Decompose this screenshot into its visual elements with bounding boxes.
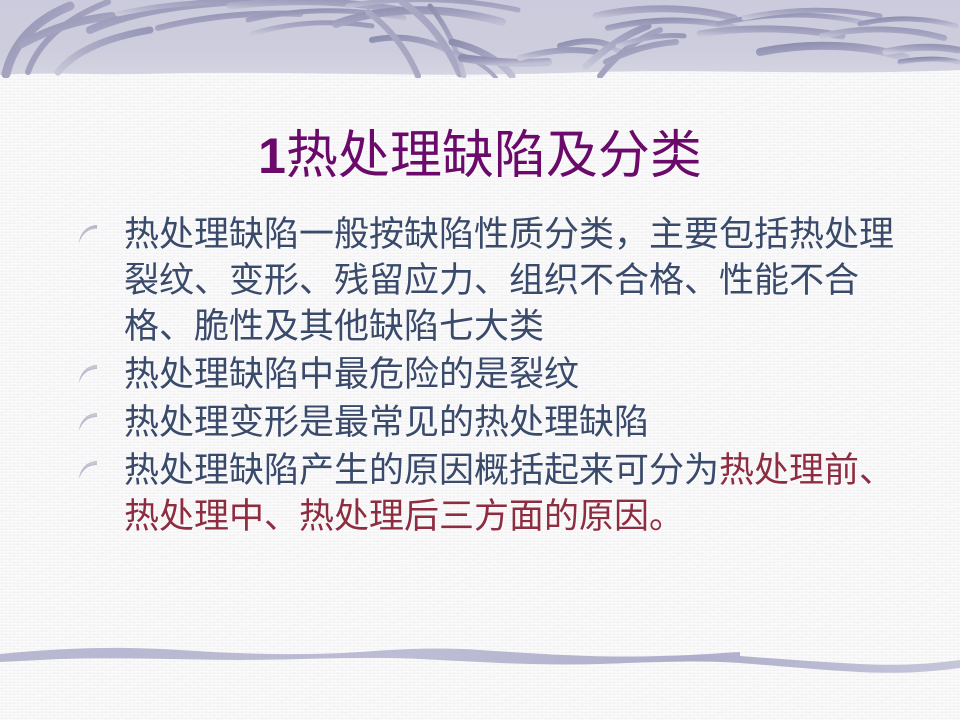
list-item-text: 热处理变形是最常见的热处理缺陷 [124, 403, 649, 443]
slide-canvas: 1热处理缺陷及分类 热处理缺陷一般按缺陷性质分类，主要包括热处 [0, 0, 960, 720]
slide-title: 1热处理缺陷及分类 [0, 126, 960, 187]
title-number: 1 [258, 128, 286, 184]
title-heading: 热处理缺陷及分类 [286, 126, 702, 186]
list-item-text: 热处理缺陷产生的原因概括起来可分为 [124, 451, 719, 491]
crescent-arc-bullet-icon [76, 362, 102, 386]
list-item: 热处理缺陷中最危险的是裂纹 [72, 352, 902, 398]
list-item: 热处理缺陷一般按缺陷性质分类，主要包括热处理裂纹、变形、残留应力、组织不合格、性… [72, 212, 902, 350]
crescent-arc-bullet-icon [76, 458, 102, 482]
list-item: 热处理变形是最常见的热处理缺陷 [72, 400, 902, 446]
header-decoration-band [0, 0, 960, 78]
list-item-text: 热处理缺陷中最危险的是裂纹 [124, 355, 579, 395]
bullet-list: 热处理缺陷一般按缺陷性质分类，主要包括热处理裂纹、变形、残留应力、组织不合格、性… [72, 212, 902, 542]
crescent-arc-bullet-icon [76, 222, 102, 246]
crescent-arc-bullet-icon [76, 410, 102, 434]
footer-wave-decoration [0, 626, 960, 678]
list-item-text: 热处理缺陷一般按缺陷性质分类，主要包括热处理裂纹、变形、残留应力、组织不合格、性… [124, 215, 894, 347]
list-item: 热处理缺陷产生的原因概括起来可分为热处理前、热处理中、热处理后三方面的原因。 [72, 448, 902, 540]
